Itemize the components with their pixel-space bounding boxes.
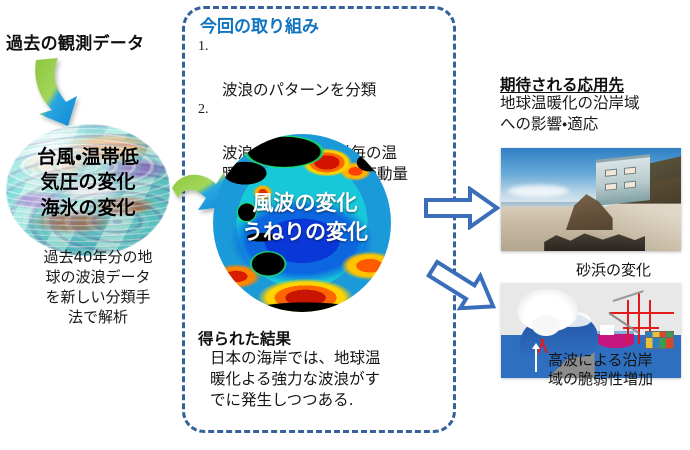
storm-wave-port-caption: 高波による沿岸 域の脆弱性増加 (548, 351, 688, 389)
diagram-canvas: 過去の観測データ 台風・温帯低 気圧の変化 海氷の変化 過去40年分の地 球の波… (0, 0, 690, 450)
down-right-block-arrow-icon (420, 258, 504, 330)
illus-containers-row (645, 337, 674, 348)
illus-crane-leg (627, 300, 629, 344)
photo-house-window (624, 181, 636, 189)
approach-list-item: 1. 波浪のパターンを分類 (196, 38, 448, 100)
photo-house-window (624, 167, 636, 175)
applications-body: 地球温暖化の沿岸域 への影響・適応 (500, 93, 684, 135)
photo-house-window (605, 184, 617, 192)
past-observation-data-heading: 過去の観測データ (6, 29, 186, 54)
right-block-arrow-icon (424, 186, 500, 230)
results-body: 日本の海岸では、地球温 暖化よる強力な波浪がす でに発生しつつある. (210, 348, 450, 412)
illus-ship-superstructure (600, 325, 614, 335)
photo-house-window (605, 169, 617, 177)
approach-panel-title: 今回の取り組み (200, 12, 319, 37)
coastal-erosion-caption: 砂浜の変化 (576, 259, 651, 280)
applications-heading: 期待される応用先 (500, 73, 624, 95)
photo-house (596, 158, 650, 207)
past-data-caption: 過去40年分の地 球の波浪データ を新しい分類手 法で解析 (24, 248, 172, 328)
wave-change-globe-label: 風波の変化 うねりの変化 (205, 189, 405, 247)
past-climate-globe-label: 台風・温帯低 気圧の変化 海氷の変化 (6, 145, 170, 221)
illus-crane-mast (638, 293, 640, 344)
curved-down-arrow-green-icon (28, 52, 102, 128)
coastal-erosion-photo (501, 148, 681, 251)
illus-crane-beam (609, 312, 674, 314)
illus-white-up-arrow (535, 348, 537, 373)
approach-item-number: 1. (198, 38, 209, 57)
results-heading: 得られた結果 (198, 327, 291, 349)
approach-item-number: 2. (198, 101, 209, 120)
approach-item-text: 波浪のパターンを分類 (222, 81, 376, 99)
